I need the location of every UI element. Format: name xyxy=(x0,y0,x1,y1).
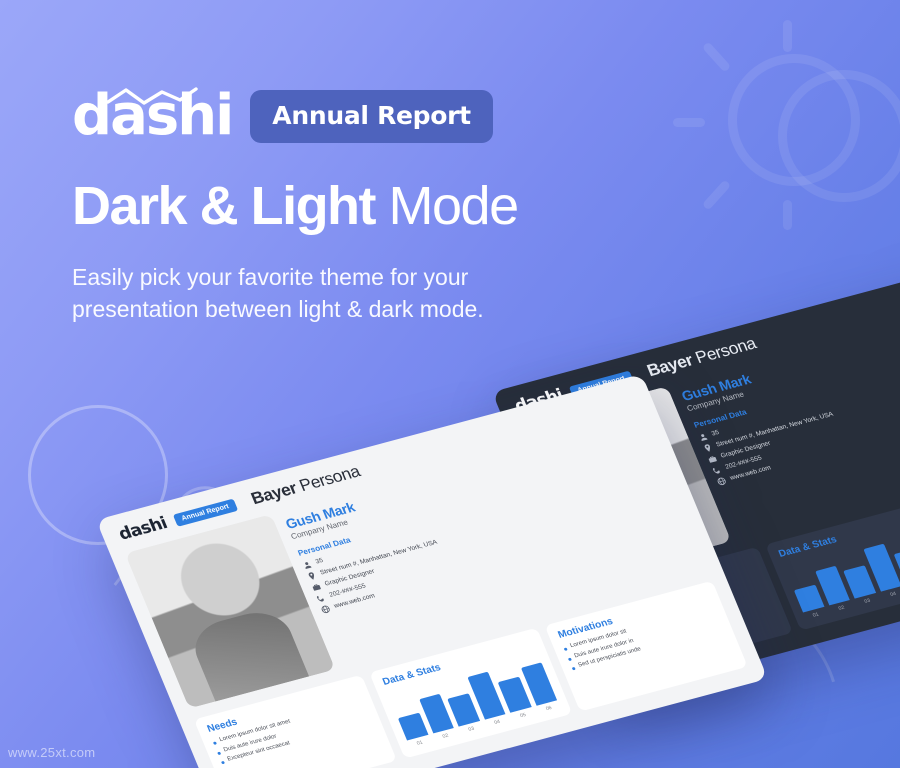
annual-report-badge: Annual Report xyxy=(250,90,493,143)
bullet-dot-icon xyxy=(221,761,225,765)
chart-tick-label: 01 xyxy=(408,738,431,749)
chart-bar xyxy=(398,713,428,741)
logo-chartline-icon xyxy=(106,86,198,108)
chart-tick-label: 02 xyxy=(830,603,853,614)
sun-ray-upper-left-icon xyxy=(702,41,731,72)
globe-icon xyxy=(716,477,727,486)
location-pin-icon xyxy=(306,571,317,580)
site-watermark: www.25xt.com xyxy=(8,745,95,760)
chart-bar xyxy=(447,693,479,726)
dark-slide-title-bold: Bayer xyxy=(644,351,695,380)
light-slide-badge: Annual Report xyxy=(172,498,238,526)
chart-bar xyxy=(794,585,824,613)
chart-tick-label: 06 xyxy=(537,703,560,714)
briefcase-icon xyxy=(707,454,718,463)
bullet-dot-icon xyxy=(568,657,572,661)
location-pin-icon xyxy=(702,443,713,452)
light-slide-logo: dashi xyxy=(116,514,170,545)
sun-ring-inner-icon xyxy=(778,70,900,202)
page-title: Dark & Light Mode xyxy=(72,178,692,235)
subtitle-line-1: Easily pick your favorite theme for your xyxy=(72,261,632,294)
subtitle: Easily pick your favorite theme for your… xyxy=(72,261,632,326)
sun-ring-outer-icon xyxy=(728,54,860,186)
briefcase-icon xyxy=(311,582,322,591)
chart-tick-label: 03 xyxy=(856,596,879,607)
bullet-dot-icon xyxy=(213,741,217,745)
sun-ray-bottom-icon xyxy=(783,200,792,230)
chart-tick-label: 04 xyxy=(486,717,509,728)
chart-tick-label: 05 xyxy=(511,710,534,721)
globe-icon xyxy=(320,605,331,614)
phone-icon xyxy=(316,594,327,603)
phone-icon xyxy=(712,466,723,475)
sun-ray-lower-left-icon xyxy=(702,179,731,210)
bullet-dot-icon xyxy=(564,647,568,651)
brand-row: dashi Annual Report xyxy=(72,88,692,144)
dark-info-age: 35 xyxy=(711,429,721,438)
chart-bar xyxy=(843,565,875,598)
chart-tick-label: 01 xyxy=(804,610,827,621)
sun-ray-top-icon xyxy=(783,20,792,52)
light-slide-title-bold: Bayer xyxy=(248,479,299,508)
hero-section: dashi Annual Report Dark & Light Mode Ea… xyxy=(72,88,692,326)
headline-bold-part: Dark & Light xyxy=(72,176,375,236)
person-icon xyxy=(698,432,709,441)
headline-light-part: Mode xyxy=(375,176,518,236)
bullet-dot-icon xyxy=(572,667,576,671)
dashi-logo: dashi xyxy=(72,88,232,144)
light-info-age: 35 xyxy=(315,557,325,566)
light-slide-title-light: Persona xyxy=(292,462,362,496)
chart-tick-label: 02 xyxy=(434,731,457,742)
subtitle-line-2: presentation between light & dark mode. xyxy=(72,293,632,326)
dark-slide-title-light: Persona xyxy=(688,334,758,368)
bullet-dot-icon xyxy=(217,751,221,755)
chart-tick-label: 03 xyxy=(460,724,483,735)
person-icon xyxy=(302,560,313,569)
poster-canvas: dashi Annual Report Dark & Light Mode Ea… xyxy=(0,0,900,768)
